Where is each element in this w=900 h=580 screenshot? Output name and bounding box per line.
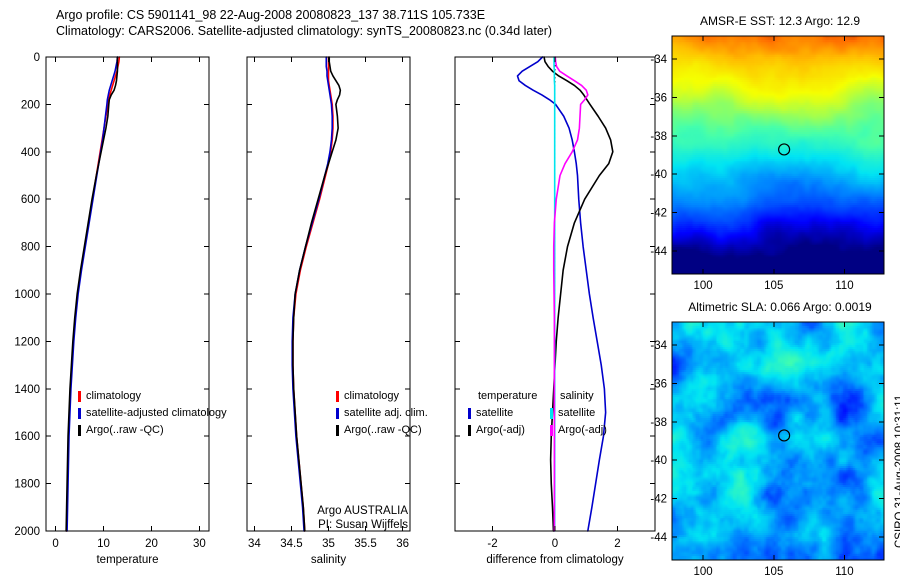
legend-diff-sal-1-swatch [550,425,553,436]
legend-diff-sal-0-label: satellite [558,407,595,419]
legend-header-temperature: temperature [478,390,537,402]
map-title-sla: Altimetric SLA: 0.066 Argo: 0.0019 [660,300,900,314]
map-lon-tick-label: 105 [764,566,783,578]
legend-diff-temp-1-label: Argo(-adj) [476,424,525,436]
x-axis-label-difference: difference from climatology [486,554,623,566]
figure-title-line-2: Climatology: CARS2006. Satellite-adjuste… [56,24,552,38]
map-sst [672,36,884,274]
legend-diff-temp-0-label: satellite [476,407,513,419]
x-tick-label: 2 [614,538,620,550]
legend-diff-sal-1-label: Argo(-adj) [558,424,607,436]
map-lon-tick-label: 110 [835,280,853,292]
figure-root: Argo profile: CS 5901141_98 22-Aug-2008 … [0,0,900,580]
legend-diff-temp-1-swatch [468,425,471,436]
map-lon-tick-label: 105 [764,280,783,292]
legend-diff-temp-0-swatch [468,408,471,419]
legend-diff-sal-0-swatch [550,408,553,419]
map-sla [672,322,884,560]
panel-difference: -202difference from climatologytemperatu… [0,40,715,580]
x-tick-label: 0 [552,538,558,550]
plot-difference: -202difference from climatologytemperatu… [0,40,715,580]
legend-header-salinity: salinity [560,390,594,402]
x-tick-label: -2 [487,538,497,550]
map-title-sst: AMSR-E SST: 12.3 Argo: 12.9 [660,14,900,28]
figure-title-line-1: Argo profile: CS 5901141_98 22-Aug-2008 … [56,8,485,22]
series-difference-0 [518,57,606,531]
series-difference-3 [554,57,588,531]
map-lon-tick-label: 110 [835,566,853,578]
csiro-timestamp: CSIRO 31-Aug-2008 10:31:11 [894,395,900,548]
